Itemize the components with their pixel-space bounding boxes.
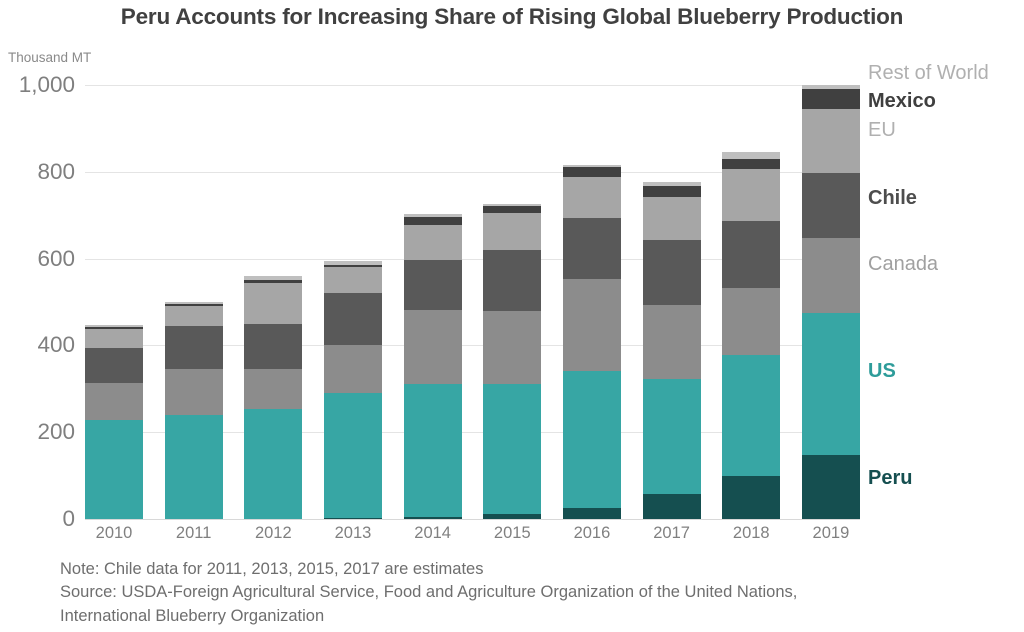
bar-segment[interactable] xyxy=(802,313,860,455)
bar-segment[interactable] xyxy=(404,384,462,517)
y-axis-tick-label: 400 xyxy=(3,332,75,358)
y-axis-tick-label: 200 xyxy=(3,419,75,445)
bar-segment[interactable] xyxy=(85,329,143,349)
bar-segment[interactable] xyxy=(404,517,462,519)
bar-series-group xyxy=(85,85,860,519)
bar-segment[interactable] xyxy=(722,355,780,475)
bar-segment[interactable] xyxy=(324,518,382,519)
bar-segment[interactable] xyxy=(563,218,621,279)
legend-item-mexico[interactable]: Mexico xyxy=(868,90,936,113)
x-axis-tick-label: 2018 xyxy=(722,524,780,543)
bar-segment[interactable] xyxy=(563,508,621,519)
legend-item-rest-of-world[interactable]: Rest of World xyxy=(868,62,989,85)
gridline xyxy=(85,519,860,520)
legend-item-canada[interactable]: Canada xyxy=(868,253,938,276)
bar-segment[interactable] xyxy=(722,169,780,221)
bar-column[interactable] xyxy=(722,85,780,519)
bar-column[interactable] xyxy=(563,85,621,519)
bar-column[interactable] xyxy=(324,85,382,519)
bar-segment[interactable] xyxy=(85,383,143,420)
y-axis-tick-label: 1,000 xyxy=(3,72,75,98)
bar-segment[interactable] xyxy=(244,324,302,370)
bar-segment[interactable] xyxy=(483,384,541,514)
bar-column[interactable] xyxy=(483,85,541,519)
bar-segment[interactable] xyxy=(643,186,701,197)
bar-column[interactable] xyxy=(643,85,701,519)
bar-segment[interactable] xyxy=(483,213,541,250)
x-axis-tick-label: 2015 xyxy=(483,524,541,543)
bar-segment[interactable] xyxy=(722,288,780,355)
bar-segment[interactable] xyxy=(85,420,143,519)
bar-segment[interactable] xyxy=(324,267,382,293)
bar-segment[interactable] xyxy=(244,409,302,519)
bar-segment[interactable] xyxy=(643,379,701,494)
x-axis-tick-label: 2010 xyxy=(85,524,143,543)
bar-segment[interactable] xyxy=(563,371,621,509)
bar-segment[interactable] xyxy=(165,415,223,519)
bar-segment[interactable] xyxy=(483,206,541,213)
note-line-1: Note: Chile data for 2011, 2013, 2015, 2… xyxy=(60,558,980,581)
y-axis-unit-label: Thousand MT xyxy=(8,50,91,65)
bar-segment[interactable] xyxy=(483,250,541,311)
bar-segment[interactable] xyxy=(404,310,462,384)
y-axis-tick-label: 800 xyxy=(3,159,75,185)
bar-segment[interactable] xyxy=(722,476,780,519)
x-axis-tick-label: 2017 xyxy=(643,524,701,543)
bar-column[interactable] xyxy=(244,85,302,519)
bar-segment[interactable] xyxy=(643,305,701,380)
chart-page: Peru Accounts for Increasing Share of Ri… xyxy=(0,0,1024,632)
bar-segment[interactable] xyxy=(404,217,462,226)
bar-column[interactable] xyxy=(85,85,143,519)
bar-segment[interactable] xyxy=(643,197,701,240)
x-axis-tick-label: 2012 xyxy=(244,524,302,543)
legend-item-us[interactable]: US xyxy=(868,360,896,383)
bar-segment[interactable] xyxy=(483,514,541,519)
bar-column[interactable] xyxy=(165,85,223,519)
bar-segment[interactable] xyxy=(244,369,302,409)
bar-segment[interactable] xyxy=(85,348,143,383)
bar-segment[interactable] xyxy=(404,260,462,310)
y-axis-tick-label: 0 xyxy=(3,506,75,532)
x-axis-tick-label: 2019 xyxy=(802,524,860,543)
note-line-2: Source: USDA-Foreign Agricultural Servic… xyxy=(60,581,980,604)
plot-area xyxy=(85,85,860,519)
y-axis-tick-label: 600 xyxy=(3,246,75,272)
bar-segment[interactable] xyxy=(165,306,223,326)
bar-segment[interactable] xyxy=(165,369,223,415)
bar-segment[interactable] xyxy=(324,293,382,345)
bar-segment[interactable] xyxy=(722,221,780,288)
bar-segment[interactable] xyxy=(643,240,701,304)
bar-segment[interactable] xyxy=(802,455,860,519)
bar-segment[interactable] xyxy=(643,494,701,519)
legend-item-eu[interactable]: EU xyxy=(868,119,896,142)
bar-column[interactable] xyxy=(404,85,462,519)
legend-item-peru[interactable]: Peru xyxy=(868,467,912,490)
bar-segment[interactable] xyxy=(404,225,462,260)
bar-segment[interactable] xyxy=(802,89,860,108)
bar-segment[interactable] xyxy=(324,393,382,518)
bar-segment[interactable] xyxy=(244,283,302,324)
chart-notes: Note: Chile data for 2011, 2013, 2015, 2… xyxy=(60,558,980,628)
legend-item-chile[interactable]: Chile xyxy=(868,187,917,210)
bar-segment[interactable] xyxy=(563,167,621,177)
note-line-3: International Blueberry Organization xyxy=(60,605,980,628)
bar-segment[interactable] xyxy=(563,279,621,371)
x-axis-tick-labels: 2010201120122013201420152016201720182019 xyxy=(85,524,860,543)
bar-segment[interactable] xyxy=(563,177,621,218)
x-axis-tick-label: 2013 xyxy=(324,524,382,543)
bar-segment[interactable] xyxy=(165,326,223,369)
bar-segment[interactable] xyxy=(722,159,780,169)
bar-segment[interactable] xyxy=(802,238,860,313)
x-axis-tick-label: 2014 xyxy=(404,524,462,543)
bar-segment[interactable] xyxy=(802,109,860,174)
x-axis-tick-label: 2016 xyxy=(563,524,621,543)
x-axis-tick-label: 2011 xyxy=(165,524,223,543)
page-title: Peru Accounts for Increasing Share of Ri… xyxy=(0,4,1024,30)
bar-segment[interactable] xyxy=(324,345,382,393)
bar-column[interactable] xyxy=(802,85,860,519)
bar-segment[interactable] xyxy=(802,173,860,238)
bar-segment[interactable] xyxy=(483,311,541,384)
